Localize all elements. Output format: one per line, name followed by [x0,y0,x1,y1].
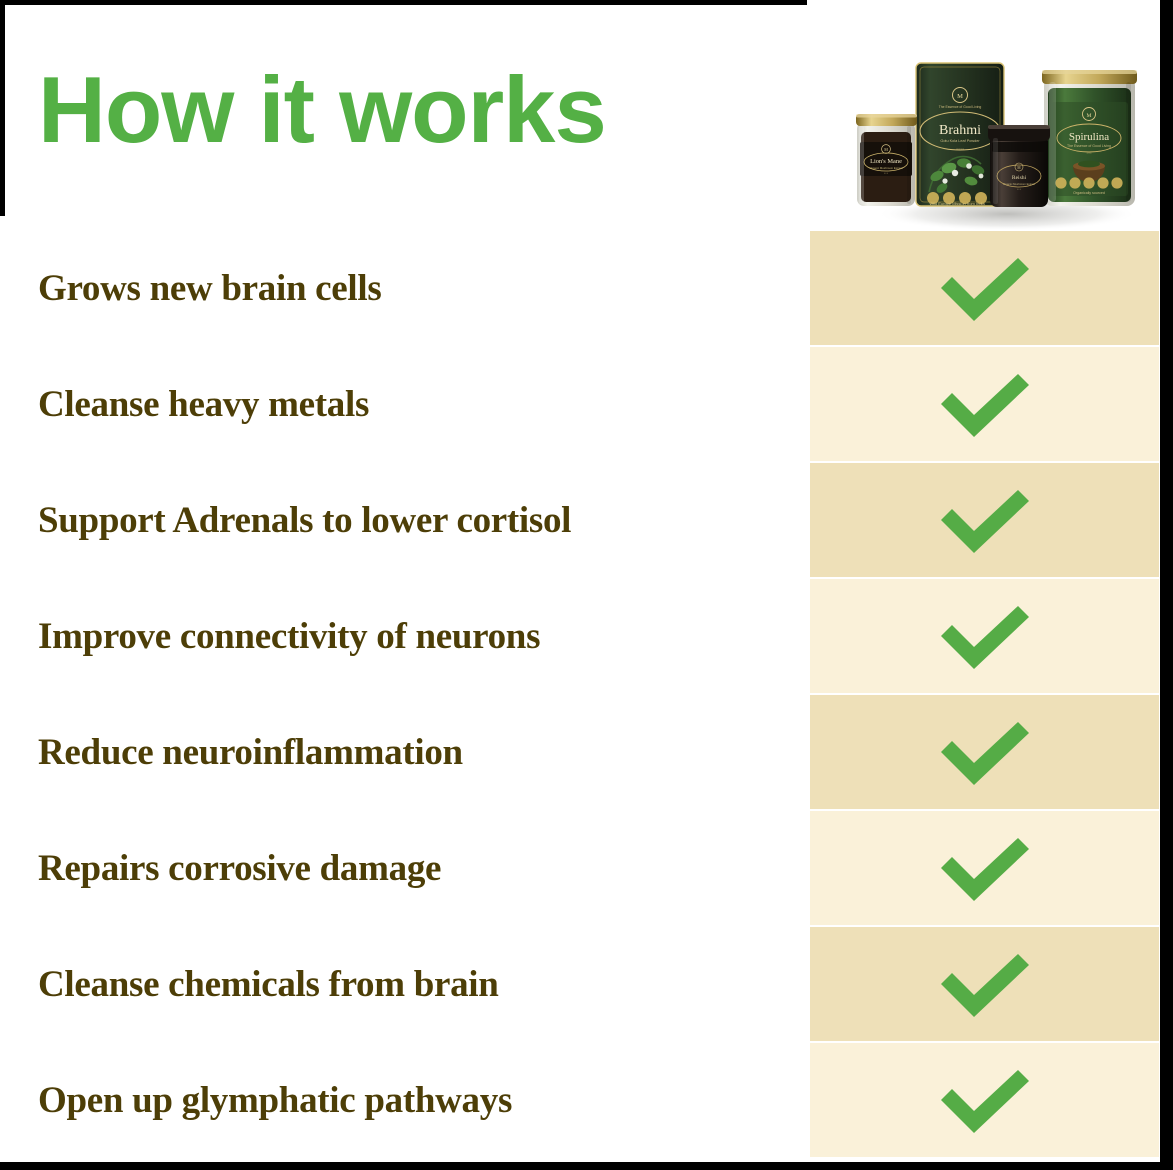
benefit-check-cell [810,695,1159,809]
svg-text:M: M [1087,113,1092,119]
svg-text:Organic Mushroom Extract: Organic Mushroom Extract [1003,182,1035,186]
benefit-check-column [810,231,1159,1163]
benefit-check-cell [810,1043,1159,1157]
svg-text:• • •: • • • [1017,188,1021,191]
page-title: How it works [38,58,606,162]
check-icon [935,371,1035,437]
check-icon [935,719,1035,785]
svg-text:Gotu Kola Leaf Powder: Gotu Kola Leaf Powder [940,139,980,143]
benefit-label: Open up glymphatic pathways [38,1043,788,1157]
benefit-label: Grows new brain cells [38,231,788,345]
product-spirulina-jar: M Spirulina The Essence of Good Living •… [1042,70,1137,206]
svg-text:• • •: • • • [1087,151,1092,155]
benefit-label: Cleanse chemicals from brain [38,927,788,1041]
check-icon [935,603,1035,669]
frame-left-bar [0,0,5,216]
check-icon [935,1067,1035,1133]
svg-text:M: M [957,93,963,100]
product-photo: M The Essence of Good Living Brahmi Gotu… [845,42,1165,230]
svg-text:Reishi: Reishi [1012,175,1027,181]
benefit-label: Improve connectivity of neurons [38,579,788,693]
check-icon [935,255,1035,321]
benefit-check-cell [810,231,1159,345]
benefit-label: Support Adrenals to lower cortisol [38,463,788,577]
svg-text:Wild Europe Mission from India: Wild Europe Mission from India [929,201,985,206]
benefit-label: Reduce neuroinflammation [38,695,788,809]
check-icon [935,835,1035,901]
svg-text:• • •: • • • [884,172,888,175]
svg-text:Spirulina: Spirulina [1069,131,1109,143]
svg-text:The Essence of Good Living: The Essence of Good Living [939,105,982,109]
product-lions-mane-jar: M Lion's Mane Organic Mushroom Extract •… [856,114,917,206]
slide-root: How it works [0,0,1173,1170]
frame-bottom-bar [0,1162,1173,1170]
svg-text:• • • •: • • • • [956,147,963,151]
svg-text:The Essence of Good Living: The Essence of Good Living [1067,144,1111,148]
svg-text:Lion's Mane: Lion's Mane [870,158,902,165]
product-small-dark-jar: M Reishi Organic Mushroom Extract • • • [988,125,1050,207]
benefit-label: Repairs corrosive damage [38,811,788,925]
svg-text:Organically sourced: Organically sourced [1073,191,1105,195]
benefit-label: Cleanse heavy metals [38,347,788,461]
svg-text:Organic Mushroom Extract: Organic Mushroom Extract [869,166,902,170]
frame-top-bar [0,0,807,5]
benefit-label-list: Grows new brain cellsCleanse heavy metal… [38,231,788,1163]
check-icon [935,487,1035,553]
svg-text:Brahmi: Brahmi [939,123,981,138]
benefit-check-cell [810,927,1159,1041]
benefit-check-cell [810,463,1159,577]
check-icon [935,951,1035,1017]
benefit-check-cell [810,579,1159,693]
svg-text:M: M [884,147,888,152]
benefit-check-cell [810,347,1159,461]
benefit-check-cell [810,811,1159,925]
